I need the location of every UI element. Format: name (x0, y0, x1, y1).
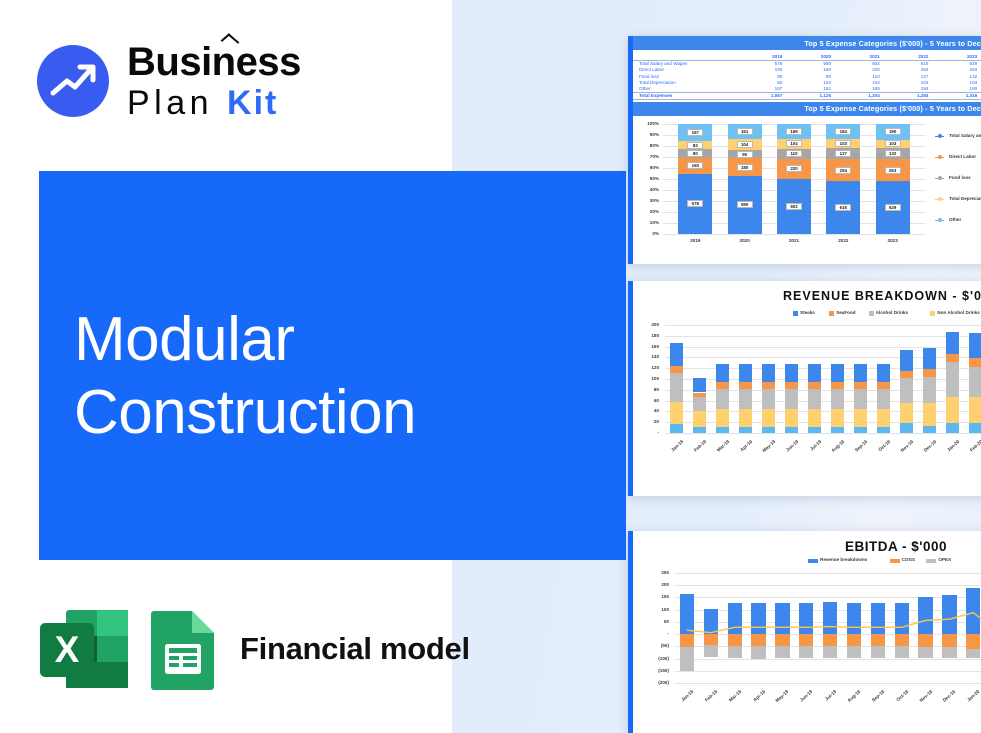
table-total-row: Total Expenses1,0671,1251,2041,2841,316 (633, 92, 981, 99)
logo-text-business: Business (127, 41, 301, 83)
x-axis-category-label: Jun-19 (792, 689, 813, 709)
legend-marker (935, 199, 944, 200)
bar-segment[interactable] (751, 646, 765, 659)
table-header-year: 2023 (930, 53, 979, 60)
bar-value-label: 220 (786, 165, 802, 172)
bar-segment[interactable] (785, 427, 798, 433)
bar-segment[interactable] (946, 423, 959, 433)
x-axis-category-label: May-19 (769, 689, 790, 709)
bar-segment[interactable] (716, 409, 729, 426)
bar-segment[interactable] (739, 427, 752, 433)
bar-segment[interactable] (877, 389, 890, 410)
x-axis-category-label: Oct-19 (868, 439, 891, 460)
table-cell-value: 161 (784, 85, 833, 92)
format-label: Financial model (240, 631, 470, 667)
x-axis-category-label: Feb-19 (697, 689, 718, 709)
bar-segment[interactable] (946, 354, 959, 363)
bar-segment[interactable] (847, 646, 861, 659)
bar-segment[interactable] (877, 364, 890, 382)
bar-value-label: 103 (835, 140, 851, 147)
bar-segment[interactable] (680, 594, 694, 635)
bar-segment[interactable] (680, 647, 694, 671)
bar-value-label: 180 (737, 164, 753, 171)
bar-segment[interactable] (942, 647, 956, 658)
bar-segment[interactable] (799, 646, 813, 659)
legend-marker (935, 136, 944, 137)
bar-segment[interactable] (762, 364, 775, 382)
table-cell-value: 602 (833, 60, 882, 67)
bar-segment[interactable] (923, 369, 936, 377)
table-cell-value: 184 (882, 85, 931, 92)
bar-segment[interactable] (966, 588, 980, 634)
bar-segment[interactable] (918, 634, 932, 647)
logo-word-kit: Kit (227, 84, 278, 122)
bar-segment[interactable] (728, 603, 742, 634)
bar-segment[interactable] (762, 389, 775, 410)
bar-segment[interactable] (877, 409, 890, 426)
y-axis-tick-label: 150 (633, 594, 669, 599)
bar-segment[interactable] (923, 377, 936, 403)
bar-segment[interactable] (716, 364, 729, 382)
legend-swatch (926, 559, 936, 563)
bar-segment[interactable] (739, 389, 752, 410)
bar-segment[interactable] (762, 382, 775, 388)
y-axis-tick-label: 100 (633, 376, 659, 381)
bar-value-label: 132 (885, 150, 901, 157)
x-axis-category-label: May-19 (753, 439, 776, 460)
legend-label: Direct Labor (949, 154, 976, 159)
y-axis-tick-label: 140 (633, 354, 659, 359)
table-cell-value: 1,204 (833, 92, 882, 99)
bar-segment[interactable] (785, 389, 798, 410)
bar-value-label: 82 (687, 142, 703, 149)
legend-swatch (869, 311, 874, 316)
bar-segment[interactable] (877, 382, 890, 388)
bar-segment[interactable] (670, 402, 683, 424)
bar-segment[interactable] (693, 378, 706, 392)
bar-segment[interactable] (680, 634, 694, 647)
bar-segment[interactable] (799, 634, 813, 645)
bar-segment[interactable] (831, 389, 844, 410)
table-cell-label: Total Expenses (633, 92, 736, 99)
bar-segment[interactable] (831, 427, 844, 433)
y-axis-tick-label: 70% (635, 154, 659, 159)
x-axis-category-label: Jan-19 (673, 689, 694, 709)
bar-segment[interactable] (918, 597, 932, 634)
bar-segment[interactable] (762, 427, 775, 433)
bar-segment[interactable] (751, 603, 765, 634)
table-header-year: 2022 (882, 53, 931, 60)
x-axis-category-label: Jan-20 (937, 439, 960, 460)
bar-value-label: 160 (687, 162, 703, 169)
bar-value-label: 110 (786, 150, 802, 157)
bar-segment[interactable] (823, 602, 837, 634)
bar-segment[interactable] (900, 403, 913, 422)
y-axis-tick-label: - (633, 430, 659, 435)
table-header-blank (633, 53, 736, 60)
x-axis-category-label: Nov-19 (912, 689, 933, 709)
y-axis-tick-label: (100) (633, 656, 669, 661)
bar-segment[interactable] (900, 378, 913, 403)
bar-segment[interactable] (895, 646, 909, 659)
gridline (665, 336, 981, 337)
y-axis-tick-label: 10% (635, 220, 659, 225)
legend-label: SeaFood (836, 310, 855, 315)
bar-segment[interactable] (775, 634, 789, 645)
bar-segment[interactable] (854, 382, 867, 388)
bar-segment[interactable] (808, 364, 821, 382)
y-axis-tick-label: 80 (633, 387, 659, 392)
table-header-year: 2019 (736, 53, 785, 60)
x-axis-category-label: Mar-19 (721, 689, 742, 709)
legend-label: Revenue breakdowns (820, 557, 867, 562)
y-axis-tick-label: 200 (633, 582, 669, 587)
y-axis-tick-label: 160 (633, 344, 659, 349)
legend-swatch (890, 559, 900, 563)
x-axis-category-label: Nov-19 (891, 439, 914, 460)
gridline (675, 585, 981, 586)
bar-segment[interactable] (831, 409, 844, 426)
y-axis-tick-label: 100 (633, 607, 669, 612)
bar-segment[interactable] (775, 646, 789, 659)
bar-segment[interactable] (704, 645, 718, 657)
legend-swatch (808, 559, 818, 563)
bar-segment[interactable] (871, 646, 885, 659)
bar-value-label: 629 (885, 204, 901, 211)
bar-segment[interactable] (728, 634, 742, 645)
bar-segment[interactable] (969, 423, 981, 433)
y-axis-tick-label: 250 (633, 570, 669, 575)
trending-up-arrow-icon (37, 45, 109, 117)
legend-label: Steaks (800, 310, 815, 315)
bar-segment[interactable] (716, 389, 729, 410)
bar-segment[interactable] (923, 426, 936, 433)
table-cell-label: Total Salary and Wages (633, 60, 736, 67)
bar-value-label: 127 (835, 150, 851, 157)
table-row: Other167161169184190 (633, 85, 981, 92)
bar-segment[interactable] (808, 409, 821, 426)
screenshot-card-revenue-breakdown[interactable]: REVENUE BREAKDOWN - $'000 20018016014012… (628, 281, 981, 496)
bar-segment[interactable] (969, 358, 981, 367)
bar-segment[interactable] (966, 634, 980, 649)
x-axis-category-label: 2022 (829, 238, 857, 243)
legend-label: Food loss (949, 175, 971, 180)
x-axis-category-label: Sep-19 (845, 439, 868, 460)
x-axis-category-label: 2020 (731, 238, 759, 243)
bar-value-label: 104 (737, 141, 753, 148)
gridline (675, 683, 981, 684)
table-cell-value: 169 (833, 85, 882, 92)
x-axis-category-label: Jun-19 (776, 439, 799, 460)
bar-segment[interactable] (785, 382, 798, 388)
brand-logo: Business Plan Kit (37, 27, 327, 137)
legend-label: Total Depreciation (949, 196, 981, 201)
bar-segment[interactable] (871, 603, 885, 634)
table-header-row: 20192020202120222023 (633, 53, 981, 60)
bar-segment[interactable] (799, 603, 813, 634)
bar-segment[interactable] (670, 424, 683, 433)
legend-label: Total Salary and Wages (949, 133, 981, 138)
bar-segment[interactable] (966, 649, 980, 658)
x-axis-category-label: Aug-19 (840, 689, 861, 709)
expense-chart-title: Top 5 Expense Categories ($'000) - 5 Yea… (633, 102, 981, 116)
bar-segment[interactable] (762, 409, 775, 426)
bar-segment[interactable] (785, 364, 798, 382)
bar-segment[interactable] (946, 397, 959, 423)
x-axis-category-label: Apr-19 (730, 439, 753, 460)
bar-segment[interactable] (670, 366, 683, 373)
bar-segment[interactable] (716, 382, 729, 388)
table-header-year: 2020 (784, 53, 833, 60)
revenue-breakdown-chart[interactable]: 20018016014012010080604020-SteaksSeaFood… (633, 281, 981, 496)
bar-segment[interactable] (895, 634, 909, 645)
table-cell-value: 1,316 (930, 92, 979, 99)
table-cell-value: 615 (882, 60, 931, 67)
bar-value-label: 169 (786, 128, 802, 135)
y-axis-tick-label: (150) (633, 668, 669, 673)
expense-table-title: Top 5 Expense Categories ($'000) - 5 Yea… (633, 36, 981, 50)
legend-label: OPEX (938, 557, 951, 562)
bar-segment[interactable] (739, 364, 752, 382)
bar-segment[interactable] (854, 389, 867, 410)
y-axis-tick-label: 30% (635, 198, 659, 203)
bar-segment[interactable] (693, 427, 706, 433)
bar-segment[interactable] (847, 634, 861, 645)
table-cell-value: 1,284 (882, 92, 931, 99)
bar-segment[interactable] (900, 423, 913, 433)
x-axis-category-label: Mar-19 (707, 439, 730, 460)
bar-segment[interactable] (751, 634, 765, 645)
legend-marker (935, 178, 944, 179)
bar-value-label: 161 (737, 128, 753, 135)
screenshot-card-ebitda[interactable]: EBITDA - $'000 25020015010050-(50)(100)(… (628, 531, 981, 733)
table-cell-value: 578 (736, 60, 785, 67)
y-axis-tick-label: 50 (633, 619, 669, 624)
y-axis-tick-label: 120 (633, 365, 659, 370)
bar-segment[interactable] (808, 382, 821, 388)
bar-segment[interactable] (854, 409, 867, 426)
logo-text-plan-kit: Plan Kit (127, 84, 301, 122)
bar-segment[interactable] (693, 397, 706, 411)
gridline (675, 597, 981, 598)
bar-segment[interactable] (785, 409, 798, 426)
y-axis-tick-label: 180 (633, 333, 659, 338)
bar-segment[interactable] (900, 371, 913, 379)
bar-segment[interactable] (693, 411, 706, 427)
x-axis-category-label: Jul-19 (799, 439, 822, 460)
bar-segment[interactable] (877, 427, 890, 433)
legend-swatch (930, 311, 935, 316)
bar-segment[interactable] (847, 603, 861, 634)
bar-segment[interactable] (831, 382, 844, 388)
bar-segment[interactable] (704, 634, 718, 645)
x-axis-category-label: Oct-19 (888, 689, 909, 709)
bar-segment[interactable] (895, 603, 909, 634)
logo-word-plan: Plan (127, 84, 213, 122)
table-row: Total Salary and Wages578590602615629 (633, 60, 981, 67)
legend-marker (935, 157, 944, 158)
bar-segment[interactable] (969, 367, 981, 397)
legend-label: Alcohol Drinks (876, 310, 908, 315)
bar-segment[interactable] (831, 364, 844, 382)
bar-segment[interactable] (823, 634, 837, 645)
table-cell-value: 167 (736, 85, 785, 92)
y-axis-tick-label: 200 (633, 322, 659, 327)
x-axis-category-label: Jan-19 (661, 439, 684, 460)
y-axis-tick-label: 40 (633, 408, 659, 413)
bar-value-label: 167 (687, 129, 703, 136)
y-axis-tick-label: - (633, 631, 669, 636)
table-cell-label: Other (633, 85, 736, 92)
table-cell-value: 1,125 (784, 92, 833, 99)
table-cell-value: 629 (930, 60, 979, 67)
table-cell-value: 1,067 (736, 92, 785, 99)
screenshot-card-expense-categories[interactable]: Top 5 Expense Categories ($'000) - 5 Yea… (628, 36, 981, 264)
legend-marker (935, 220, 944, 221)
bar-segment[interactable] (704, 609, 718, 634)
gridline (675, 671, 981, 672)
y-axis-tick-label: 0% (635, 231, 659, 236)
bar-segment[interactable] (923, 403, 936, 426)
expense-table: 20192020202120222023 Total Salary and Wa… (633, 53, 981, 100)
legend-label: Other (949, 217, 961, 222)
bar-segment[interactable] (854, 427, 867, 433)
bar-value-label: 103 (885, 140, 901, 147)
table-cell-value: 190 (930, 85, 979, 92)
bar-segment[interactable] (969, 333, 981, 358)
format-row: X Financial model (38, 608, 470, 690)
x-axis-category-label: Dec-19 (936, 689, 957, 709)
bar-value-label: 615 (835, 204, 851, 211)
y-axis-tick-label: 60 (633, 398, 659, 403)
legend-swatch (829, 311, 834, 316)
y-axis-tick-label: 100% (635, 121, 659, 126)
legend-label: Non Alcohol Drinks (937, 310, 979, 315)
bar-value-label: 590 (737, 201, 753, 208)
bar-segment[interactable] (728, 646, 742, 659)
page-title: Modular Construction (74, 303, 604, 449)
bar-segment[interactable] (942, 634, 956, 647)
bar-segment[interactable] (808, 427, 821, 433)
bar-segment[interactable] (854, 364, 867, 382)
y-axis-tick-label: 20% (635, 209, 659, 214)
bar-value-label: 602 (786, 203, 802, 210)
bar-segment[interactable] (871, 634, 885, 645)
y-axis-tick-label: 20 (633, 419, 659, 424)
bar-segment[interactable] (946, 332, 959, 354)
bar-value-label: 578 (687, 200, 703, 207)
bar-segment[interactable] (693, 393, 706, 397)
gridline (675, 573, 981, 574)
x-axis-category-label: Jul-19 (816, 689, 837, 709)
bar-segment[interactable] (900, 350, 913, 371)
bar-segment[interactable] (739, 382, 752, 388)
expense-stacked-bar-chart[interactable]: 100%90%80%70%60%50%40%30%20%10%0%1678280… (633, 116, 981, 254)
table-header-year: 2021 (833, 53, 882, 60)
svg-text:X: X (55, 629, 80, 670)
bar-segment[interactable] (946, 362, 959, 397)
table-cell-value: 590 (784, 60, 833, 67)
y-axis-tick-label: 60% (635, 165, 659, 170)
x-axis-category-label: Sep-19 (864, 689, 885, 709)
bar-value-label: 184 (835, 128, 851, 135)
y-axis-tick-label: 90% (635, 132, 659, 137)
x-axis-category-label: Jan-20 (959, 689, 980, 709)
bar-value-label: 104 (786, 140, 802, 147)
ebitda-chart[interactable]: 25020015010050-(50)(100)(150)(200)Revenu… (633, 531, 981, 733)
gridline (663, 234, 925, 235)
bar-segment[interactable] (942, 595, 956, 634)
y-axis-tick-label: 40% (635, 187, 659, 192)
bar-segment[interactable] (739, 409, 752, 426)
y-axis-tick-label: (50) (633, 643, 669, 648)
y-axis-tick-label: (200) (633, 680, 669, 685)
bar-segment[interactable] (969, 397, 981, 422)
bar-segment[interactable] (670, 343, 683, 366)
bar-value-label: 263 (885, 167, 901, 174)
x-axis-category-label: Dec-19 (914, 439, 937, 460)
microsoft-excel-icon: X (38, 608, 134, 690)
x-axis-category-label: Feb-19 (684, 439, 707, 460)
x-axis-category-label: Aug-19 (822, 439, 845, 460)
bar-value-label: 90 (737, 151, 753, 158)
bar-value-label: 80 (687, 150, 703, 157)
legend-swatch (793, 311, 798, 316)
gridline (665, 433, 981, 434)
legend-label: COGS (902, 557, 916, 562)
x-axis-category-label: 2019 (681, 238, 709, 243)
bar-segment[interactable] (670, 373, 683, 402)
bar-segment[interactable] (775, 603, 789, 634)
bar-segment[interactable] (823, 646, 837, 659)
gridline (665, 325, 981, 326)
x-axis-category-label: 2021 (780, 238, 808, 243)
gridline (675, 659, 981, 660)
x-axis-category-label: Apr-19 (745, 689, 766, 709)
google-sheets-icon (148, 608, 218, 690)
bar-segment[interactable] (716, 427, 729, 433)
bar-value-label: 254 (835, 167, 851, 174)
x-axis-category-label: 2023 (879, 238, 907, 243)
bar-segment[interactable] (918, 647, 932, 658)
bar-segment[interactable] (808, 389, 821, 410)
bar-value-label: 190 (885, 128, 901, 135)
x-axis-category-label: Feb-20 (960, 439, 981, 460)
y-axis-tick-label: 80% (635, 143, 659, 148)
bar-segment[interactable] (923, 348, 936, 370)
y-axis-tick-label: 50% (635, 176, 659, 181)
